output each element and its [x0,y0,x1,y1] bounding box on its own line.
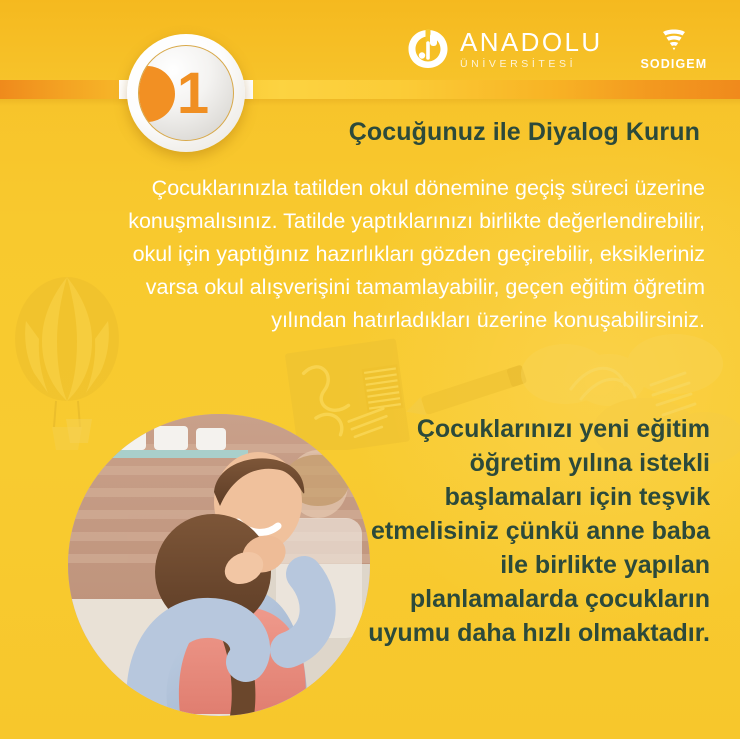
family-photo [68,414,370,716]
anadolu-wordmark: ANADOLU ÜNİVERSİTESİ [460,29,603,70]
brand-header: ANADOLU ÜNİVERSİTESİ SODIGEM [406,27,707,71]
poster-canvas: 1 ANADOLU ÜNİVERSİTESİ [0,0,740,739]
family-photo-illustration [68,414,370,716]
signal-waves-icon [661,28,687,52]
anadolu-monogram-icon [406,27,450,71]
orange-stripe [0,80,740,99]
advice-paragraph: Çocuklarınızı yeni eğitim öğretim yılına… [360,412,710,650]
page-title: Çocuğunuz ile Diyalog Kurun [0,118,700,147]
anadolu-subtitle: ÜNİVERSİTESİ [460,59,603,70]
orange-stripe-shadow [0,99,740,106]
sodigem-name: SODIGEM [641,57,708,71]
sodigem-logo: SODIGEM [641,28,708,71]
anadolu-logo: ANADOLU ÜNİVERSİTESİ [406,27,603,71]
anadolu-name: ANADOLU [460,29,603,55]
intro-paragraph: Çocuklarınızla tatilden okul dönemine ge… [95,172,705,337]
